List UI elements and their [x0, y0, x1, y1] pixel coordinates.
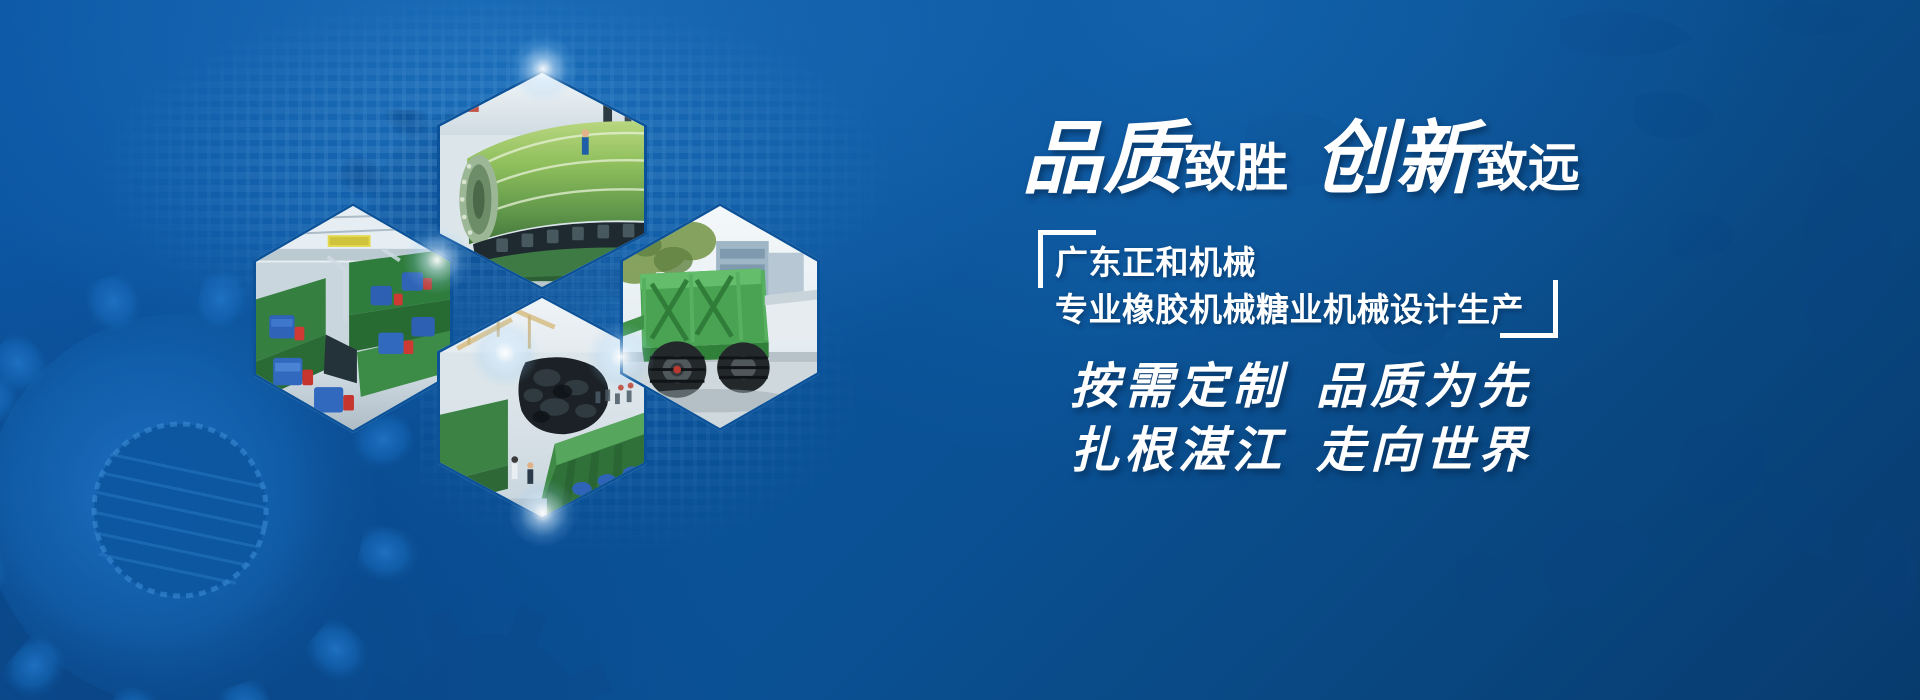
slogan-line1: 按需定制品质为先 — [1070, 355, 1532, 419]
headline-part1-small: 致胜 — [1184, 139, 1288, 199]
hexagon-photo-cluster — [0, 0, 900, 700]
hex-photo-factory-production-line[interactable] — [253, 203, 453, 433]
photo-green-rotary-drum — [440, 73, 644, 287]
headline-part2-big: 创新 — [1314, 111, 1476, 205]
subtitle: 广东正和机械 专业橡胶机械糖业机械设计生产 — [1055, 240, 1524, 334]
hex-photo-rubber-conveyor-trough[interactable] — [437, 295, 647, 520]
slogan-line2-right: 走向世界 — [1316, 421, 1532, 479]
slogan-line2-left: 扎根湛江 — [1070, 421, 1286, 479]
hex-photo-green-rotary-drum[interactable] — [437, 70, 647, 290]
photo-rubber-conveyor-trough — [440, 298, 644, 517]
photo-green-trailer-vehicle — [623, 206, 817, 428]
promotional-banner: 品质致胜创新致远 广东正和机械 专业橡胶机械糖业机械设计生产 按需定制品质为先 … — [0, 0, 1920, 700]
hex-photo-green-trailer-vehicle[interactable] — [620, 203, 820, 431]
slogan-line2: 扎根湛江走向世界 — [1070, 419, 1532, 483]
slogan-line1-left: 按需定制 — [1070, 357, 1286, 415]
headline-part2-small: 致远 — [1476, 139, 1580, 199]
subtitle-line1: 广东正和机械 — [1055, 240, 1524, 287]
slogan-line1-right: 品质为先 — [1316, 357, 1532, 415]
headline-part1-big: 品质 — [1022, 111, 1184, 205]
banner-copy: 品质致胜创新致远 广东正和机械 专业橡胶机械糖业机械设计生产 按需定制品质为先 … — [1010, 0, 1910, 700]
subtitle-line2: 专业橡胶机械糖业机械设计生产 — [1055, 287, 1524, 334]
photo-factory-production-line — [256, 206, 450, 430]
headline: 品质致胜创新致远 — [1022, 118, 1580, 198]
slogan: 按需定制品质为先 扎根湛江走向世界 — [1070, 355, 1532, 482]
